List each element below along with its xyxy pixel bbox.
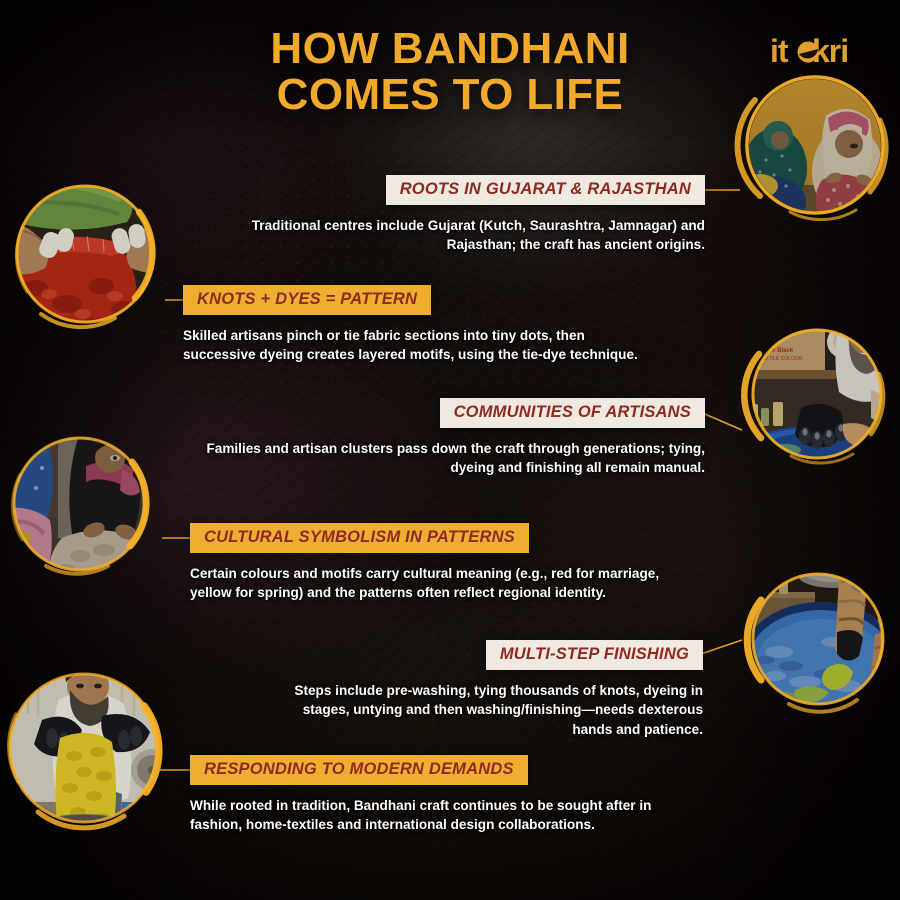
section-block-5: MULTI-STEP FINISHING Steps include pre-w… bbox=[260, 640, 703, 739]
section-heading-6: RESPONDING TO MODERN DEMANDS bbox=[190, 755, 528, 785]
section-body-2: Skilled artisans pinch or tie fabric sec… bbox=[183, 326, 653, 365]
section-block-6: RESPONDING TO MODERN DEMANDS While roote… bbox=[190, 755, 660, 835]
photo-women-tying-yellow-wall bbox=[730, 60, 900, 230]
section-heading-2: KNOTS + DYES = PATTERN bbox=[183, 285, 431, 315]
page-title-line-1: HOW BANDHANI bbox=[150, 26, 750, 72]
photo-hands-tying-red-fabric bbox=[5, 168, 177, 340]
photo-dyer-blue-vat: J.y Water Black TEXTILE COLOUR bbox=[735, 312, 900, 477]
section-heading-1: ROOTS IN GUJARAT & RAJASTHAN bbox=[386, 175, 705, 205]
section-heading-4: CULTURAL SYMBOLISM IN PATTERNS bbox=[190, 523, 529, 553]
section-body-3: Families and artisan clusters pass down … bbox=[200, 439, 705, 478]
infographic-canvas: HOW BANDHANI COMES TO LIFE it kri bbox=[0, 0, 900, 900]
section-heading-3: COMMUNITIES OF ARTISANS bbox=[440, 398, 705, 428]
section-body-1: Traditional centres include Gujarat (Kut… bbox=[235, 216, 705, 255]
section-body-4: Certain colours and motifs carry cultura… bbox=[190, 564, 690, 603]
section-heading-5: MULTI-STEP FINISHING bbox=[486, 640, 703, 670]
page-title-line-2: COMES TO LIFE bbox=[150, 72, 750, 118]
photo-bundles-in-blue-dye bbox=[735, 556, 900, 722]
photo-dyer-lifting-yellow-cloth bbox=[2, 652, 178, 848]
section-block-1: ROOTS IN GUJARAT & RAJASTHAN Traditional… bbox=[235, 175, 705, 255]
photo-women-tying-cream-cloth bbox=[2, 418, 170, 590]
section-body-6: While rooted in tradition, Bandhani craf… bbox=[190, 796, 660, 835]
section-block-2: KNOTS + DYES = PATTERN Skilled artisans … bbox=[183, 285, 653, 365]
section-block-4: CULTURAL SYMBOLISM IN PATTERNS Certain c… bbox=[190, 523, 690, 603]
section-block-3: COMMUNITIES OF ARTISANS Families and art… bbox=[200, 398, 705, 478]
section-body-5: Steps include pre-washing, tying thousan… bbox=[260, 681, 703, 739]
